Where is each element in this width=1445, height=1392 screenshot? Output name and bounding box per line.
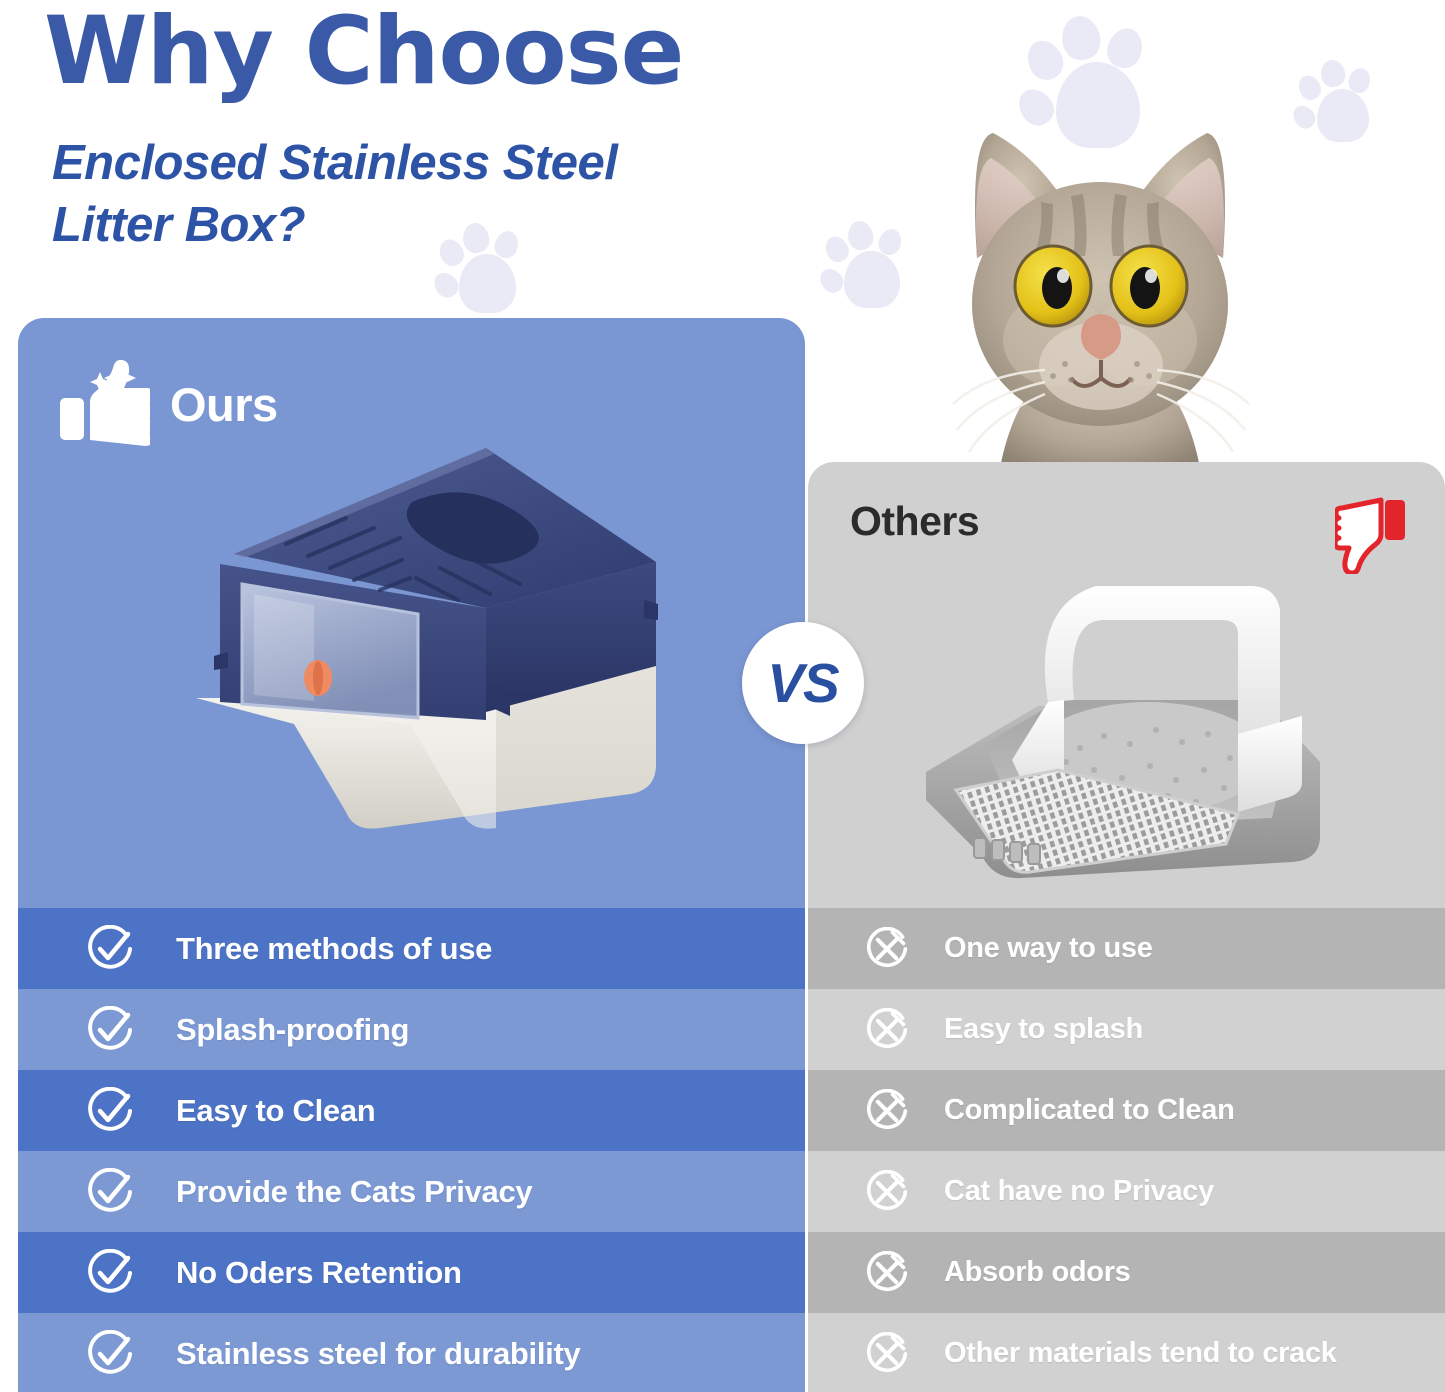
page-title: Why Choose (44, 4, 984, 100)
others-feature-label: Absorb odors (944, 1256, 1131, 1289)
navy-litter-box-illustration (168, 428, 688, 858)
others-feature-row: Complicated to Clean (808, 1070, 1445, 1151)
x-circle-icon (860, 1089, 914, 1133)
check-circle-icon (80, 1006, 140, 1054)
ours-panel: Ours (18, 318, 805, 1392)
vs-label: VS (767, 651, 838, 715)
others-feature-row: One way to use (808, 908, 1445, 989)
others-feature-label: One way to use (944, 932, 1153, 965)
others-feature-row: Absorb odors (808, 1232, 1445, 1313)
others-feature-label: Complicated to Clean (944, 1094, 1235, 1127)
ours-feature-row: Provide the Cats Privacy (18, 1151, 805, 1232)
ours-feature-row: Easy to Clean (18, 1070, 805, 1151)
page-subtitle: Enclosed Stainless Steel Litter Box? (52, 132, 872, 256)
others-product-image (898, 522, 1348, 902)
others-feature-row: Easy to splash (808, 989, 1445, 1070)
ours-product-image (168, 428, 688, 858)
ours-feature-row: Stainless steel for durability (18, 1313, 805, 1392)
vs-badge: VS (742, 622, 864, 744)
others-feature-row: Other materials tend to crack (808, 1313, 1445, 1392)
infographic-canvas: Why Choose Enclosed Stainless Steel Litt… (0, 0, 1445, 1392)
cat-photo (905, 108, 1295, 468)
check-circle-icon (80, 1168, 140, 1216)
gray-litter-tray-illustration (898, 522, 1348, 902)
others-feature-row: Cat have no Privacy (808, 1151, 1445, 1232)
ours-feature-row: Three methods of use (18, 908, 805, 989)
ours-feature-label: No Oders Retention (176, 1255, 462, 1291)
subtitle-line-1: Enclosed Stainless Steel (52, 132, 872, 194)
ours-feature-row: No Oders Retention (18, 1232, 805, 1313)
thumbs-up-sparkle-icon (58, 358, 150, 451)
others-panel: Others (808, 462, 1445, 1392)
ours-feature-label: Provide the Cats Privacy (176, 1174, 532, 1210)
x-circle-icon (860, 1251, 914, 1295)
paw-print-icon (1292, 54, 1391, 147)
check-circle-icon (80, 1330, 140, 1378)
surprised-cat-illustration (905, 108, 1295, 468)
subtitle-line-2: Litter Box? (52, 194, 872, 256)
ours-label: Ours (170, 377, 278, 432)
others-feature-label: Easy to splash (944, 1013, 1143, 1046)
others-feature-label: Other materials tend to crack (944, 1337, 1337, 1370)
ours-feature-label: Splash-proofing (176, 1012, 409, 1048)
x-circle-icon (860, 927, 914, 971)
ours-feature-row: Splash-proofing (18, 989, 805, 1070)
others-feature-list: One way to useEasy to splashComplicated … (808, 908, 1445, 1392)
x-circle-icon (860, 1170, 914, 1214)
ours-feature-list: Three methods of useSplash-proofingEasy … (18, 908, 805, 1392)
ours-feature-label: Easy to Clean (176, 1093, 375, 1129)
check-circle-icon (80, 925, 140, 973)
x-circle-icon (860, 1008, 914, 1052)
check-circle-icon (80, 1087, 140, 1135)
x-circle-icon (860, 1332, 914, 1376)
ours-feature-label: Three methods of use (176, 931, 492, 967)
ours-feature-label: Stainless steel for durability (176, 1336, 580, 1372)
check-circle-icon (80, 1249, 140, 1297)
others-feature-label: Cat have no Privacy (944, 1175, 1214, 1208)
